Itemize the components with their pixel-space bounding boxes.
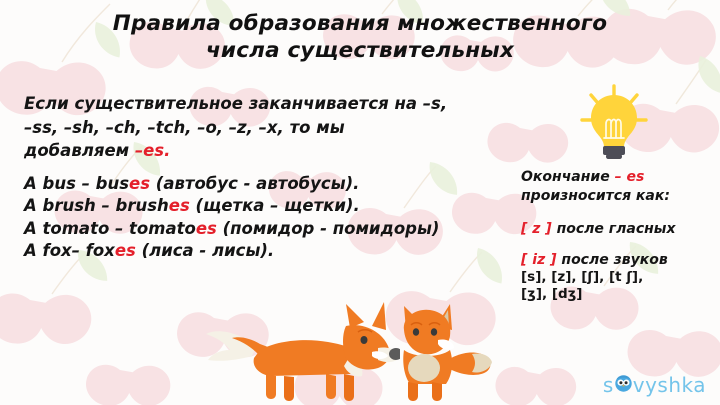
rule-dash: – bbox=[135, 141, 143, 160]
rule-statement: Если существительное заканчивается на –s… bbox=[24, 92, 494, 163]
example-translation: (автобус - автобусы). bbox=[150, 174, 359, 193]
pron-heading-prefix: Окончание bbox=[521, 169, 615, 185]
rule-line-3-prefix: добавляем bbox=[24, 141, 135, 160]
bracket-open: [ bbox=[521, 221, 532, 237]
owl-icon bbox=[615, 373, 632, 397]
lightbulb-icon bbox=[578, 82, 650, 160]
bracket-close: ] bbox=[540, 221, 551, 237]
example-stem: A tomato – tomato bbox=[24, 219, 196, 238]
page-title: Правила образования множественного числа… bbox=[0, 10, 720, 64]
pron-heading-dash: – bbox=[615, 169, 627, 185]
pron-rule-z-text: после гласных bbox=[552, 221, 676, 237]
pron-heading-line-2: произносится как: bbox=[521, 188, 670, 204]
bracket-close: ] bbox=[545, 252, 556, 268]
pron-rule-iz-text: после звуков bbox=[557, 252, 668, 268]
title-line-1: Правила образования множественного bbox=[0, 10, 720, 37]
logo-text-after: vyshka bbox=[633, 373, 706, 397]
title-line-2: числа существительных bbox=[0, 37, 720, 64]
fox-large-illustration bbox=[200, 298, 400, 403]
rule-ending-accent: es. bbox=[143, 141, 170, 160]
phoneme-line-2: [ʒ], [dʒ] bbox=[521, 286, 717, 303]
example-ending: es bbox=[129, 174, 150, 193]
slide-canvas: Правила образования множественного числа… bbox=[0, 0, 720, 405]
example-stem: A bus – bus bbox=[24, 174, 129, 193]
example-translation: (щетка – щетки). bbox=[190, 196, 360, 215]
logo-wordmark: s vyshka bbox=[603, 373, 706, 397]
example-ending: es bbox=[115, 241, 136, 260]
example-translation: (лиса - лисы). bbox=[136, 241, 274, 260]
fox-small-illustration bbox=[388, 300, 493, 402]
brand-logo[interactable]: s vyshka bbox=[603, 373, 706, 397]
rule-line-1: Если существительное заканчивается на –s… bbox=[24, 94, 447, 113]
example-item: A tomato – tomatoes (помидор - помидоры) bbox=[24, 218, 494, 241]
examples-list: A bus – buses (автобус - автобусы). A br… bbox=[24, 173, 494, 263]
pronunciation-panel: Окончание – es произносится как: [ z ] п… bbox=[521, 168, 717, 315]
bracket-open: [ bbox=[521, 252, 532, 268]
example-item: A bus – buses (автобус - автобусы). bbox=[24, 173, 494, 196]
example-item: A brush – brushes (щетка – щетки). bbox=[24, 195, 494, 218]
example-item: A fox– foxes (лиса - лисы). bbox=[24, 240, 494, 263]
example-ending: es bbox=[196, 219, 217, 238]
example-ending: es bbox=[169, 196, 190, 215]
example-translation: (помидор - помидоры) bbox=[217, 219, 440, 238]
phoneme-line-1: [s], [z], [ʃ], [t ʃ], bbox=[521, 269, 717, 286]
example-stem: A brush – brush bbox=[24, 196, 169, 215]
pron-heading-accent: es bbox=[626, 169, 644, 185]
pronunciation-heading: Окончание – es произносится как: bbox=[521, 168, 717, 206]
logo-text-before: s bbox=[603, 373, 614, 397]
sound-symbol-iz: iz bbox=[532, 252, 545, 268]
rule-line-2: –ss, –sh, –ch, –tch, –o, –z, –x, то мы bbox=[24, 118, 345, 137]
pronunciation-rule-z: [ z ] после гласных bbox=[521, 220, 717, 239]
lesson-body: Если существительное заканчивается на –s… bbox=[24, 92, 494, 263]
pronunciation-rule-iz: [ iz ] после звуков [s], [z], [ʃ], [t ʃ]… bbox=[521, 251, 717, 304]
example-stem: A fox– fox bbox=[24, 241, 115, 260]
